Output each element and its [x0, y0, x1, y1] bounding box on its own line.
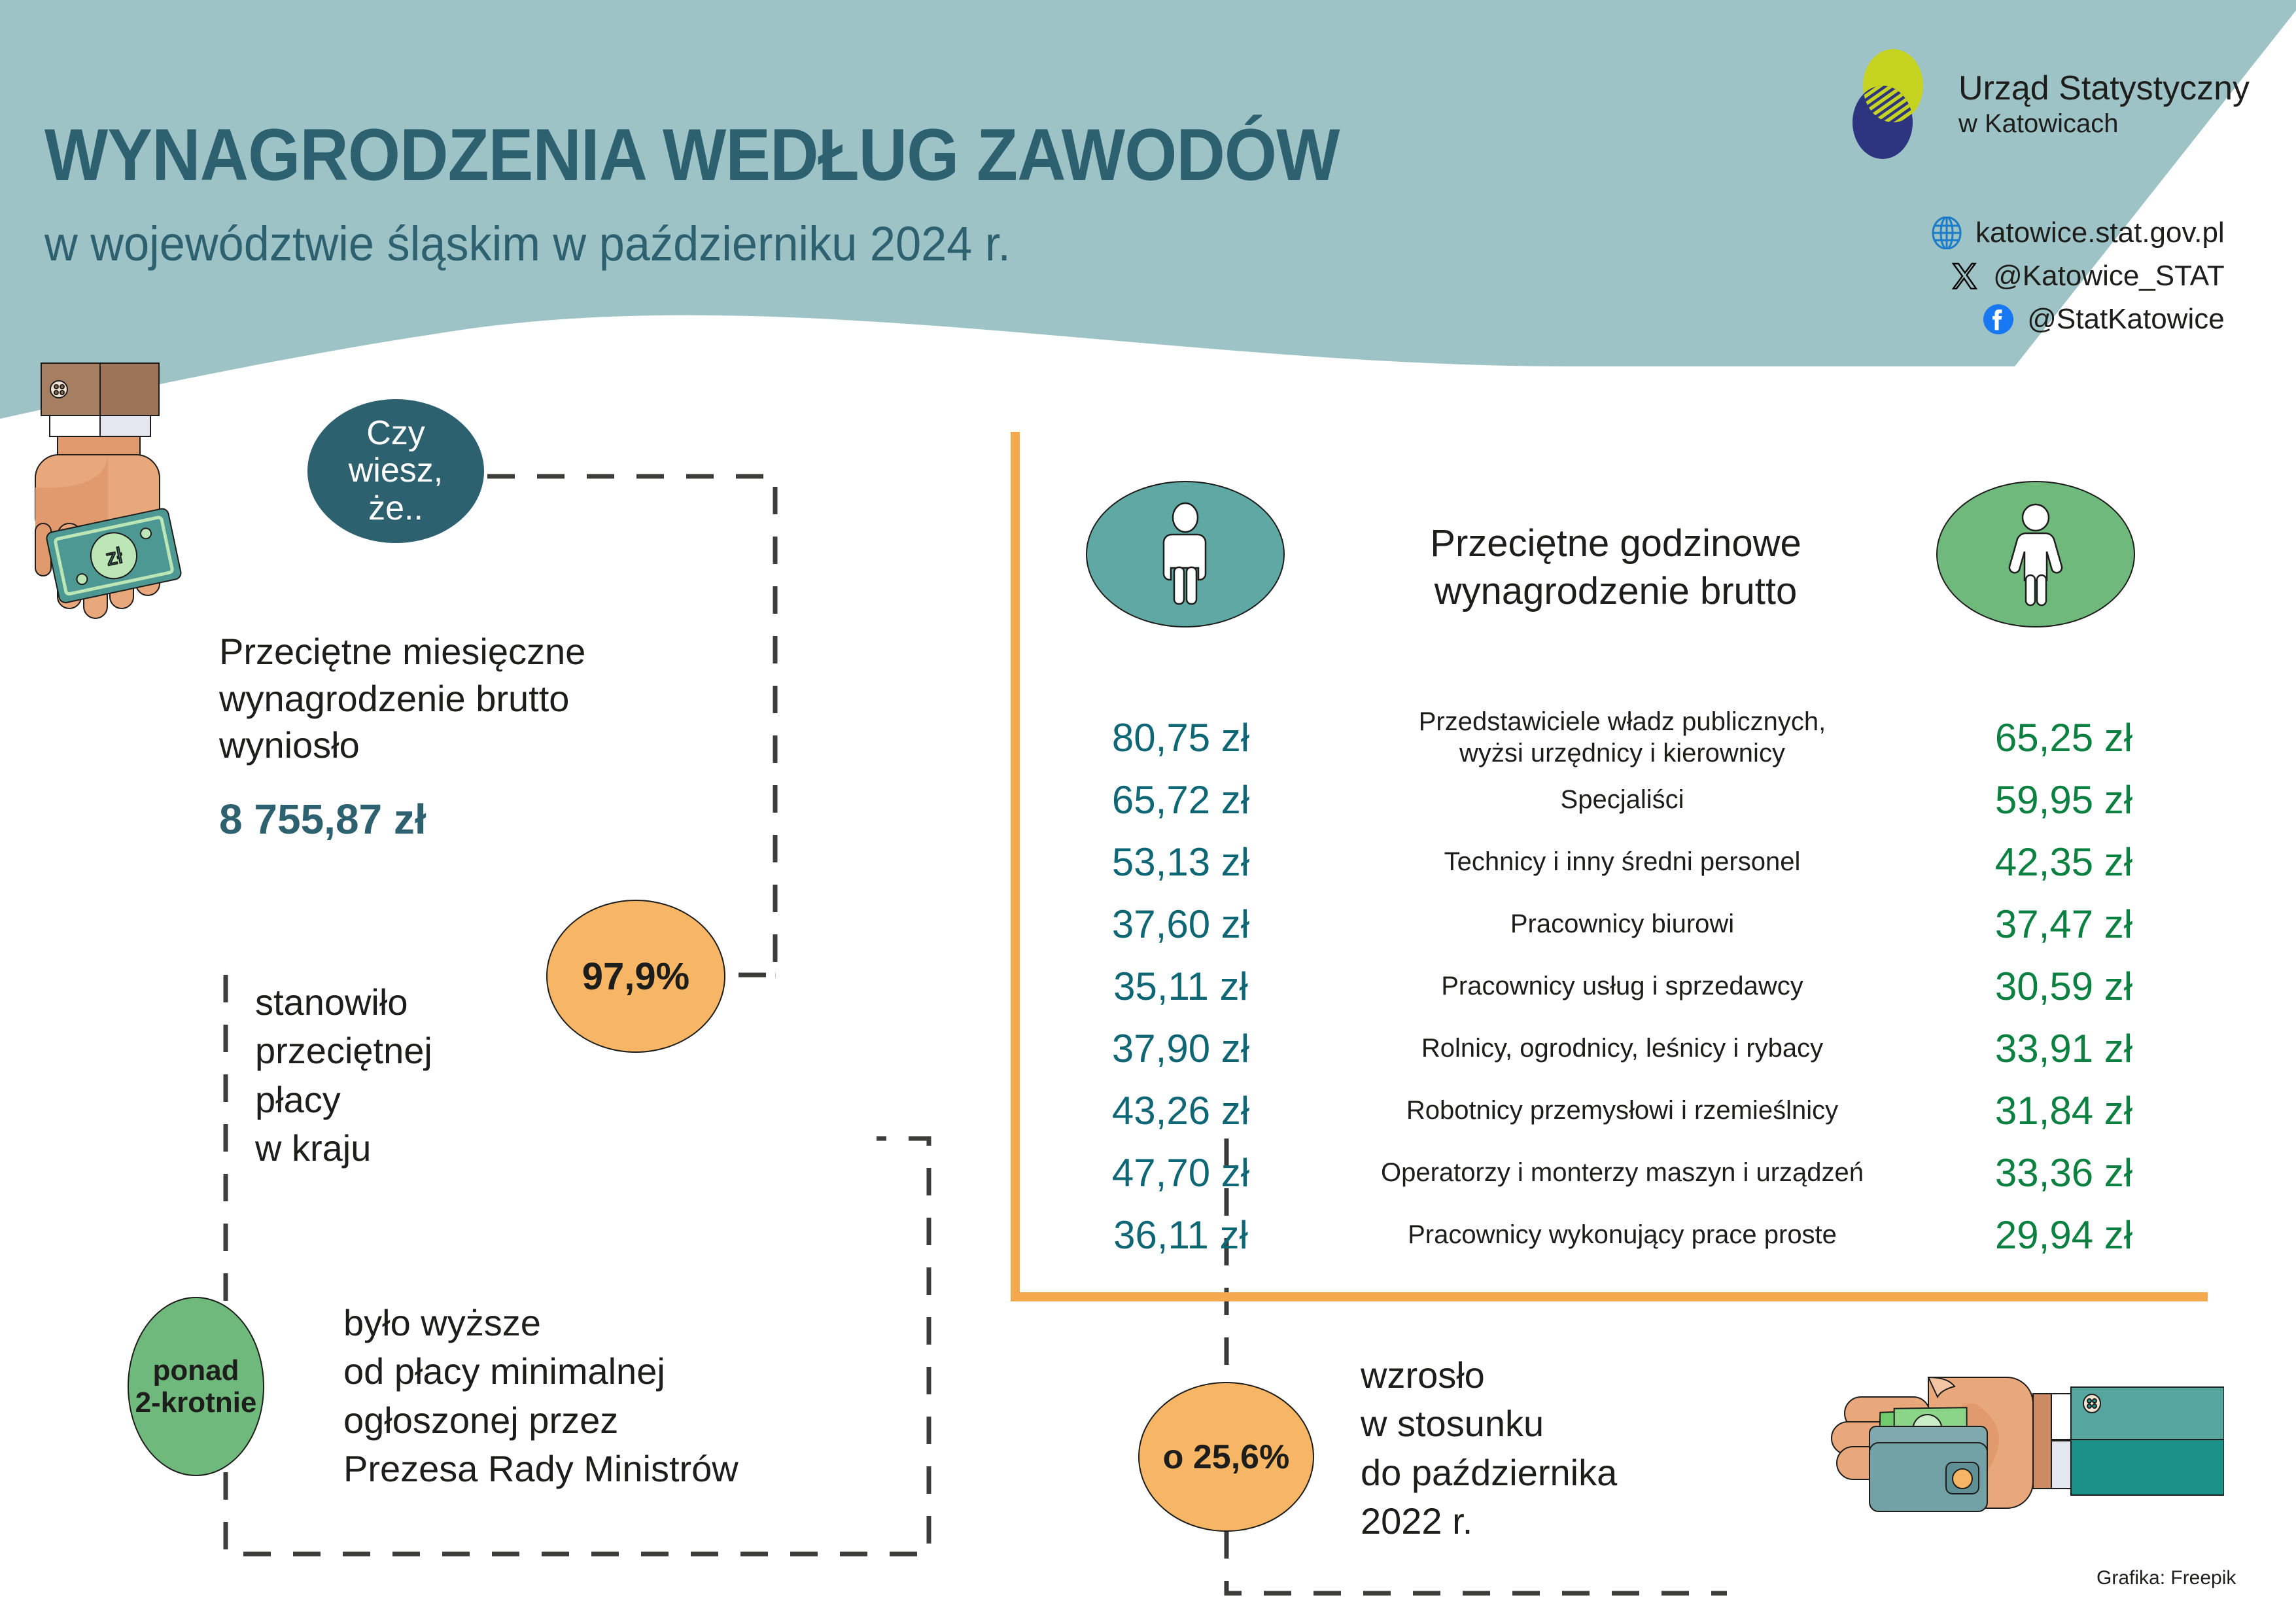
women-wage-value: 31,84 zł	[1923, 1080, 2204, 1142]
women-wage-value: 33,91 zł	[1923, 1017, 2204, 1080]
table-title-line1: Przeciętne godzinowe	[1321, 520, 1910, 568]
minwage-label-line1: było wyższe	[343, 1299, 739, 1347]
occupation-label-line1: Pracownicy usług i sprzedawcy	[1321, 971, 1923, 1002]
men-wage-value: 37,60 zł	[1040, 893, 1321, 955]
contact-x-twitter[interactable]: @Katowice_STAT	[1930, 259, 2225, 293]
women-wage-value: 30,59 zł	[1923, 955, 2204, 1017]
women-wage-value: 33,36 zł	[1923, 1142, 2204, 1204]
growth-label-line1: wzrosło	[1361, 1351, 1617, 1400]
table-row: 53,13 złTechnicy i inny średni personel4…	[1040, 831, 2204, 893]
monthly-wage-value: 8 755,87 zł	[219, 795, 426, 843]
organization-logo: Urząd Statystyczny w Katowicach	[1845, 49, 2250, 159]
share-label-line2: przeciętnej	[255, 1027, 432, 1075]
occupation-label: Rolnicy, ogrodnicy, leśnicy i rybacy	[1321, 1017, 1923, 1080]
hourly-wage-table: 80,75 złPrzedstawiciele władz publicznyc…	[1040, 707, 2204, 1266]
share-of-national-average-badge: 97,9%	[546, 900, 725, 1053]
occupation-label: Robotnicy przemysłowi i rzemieślnicy	[1321, 1080, 1923, 1142]
men-wage-value: 37,90 zł	[1040, 1017, 1321, 1080]
female-person-badge	[1936, 481, 2135, 627]
female-person-icon	[2000, 502, 2072, 607]
logo-line-2: w Katowicach	[1958, 109, 2250, 139]
contact-facebook[interactable]: @StatKatowice	[1930, 302, 2225, 336]
women-wage-value: 59,95 zł	[1923, 769, 2204, 831]
occupation-label-line1: Technicy i inny średni personel	[1321, 847, 1923, 877]
table-row: 36,11 złPracownicy wykonujący prace pros…	[1040, 1204, 2204, 1266]
share-label-line4: w kraju	[255, 1124, 432, 1173]
minwage-label-line4: Prezesa Rady Ministrów	[343, 1445, 739, 1493]
monthly-wage-label: Przeciętne miesięczne wynagrodzenie brut…	[219, 628, 585, 769]
page-title: WYNAGRODZENIA WEDŁUG ZAWODÓW	[44, 113, 1339, 197]
growth-label-line2: w stosunku	[1361, 1400, 1617, 1448]
multiple-badge-line2: 2-krotnie	[135, 1386, 257, 1419]
monthly-wage-label-line2: wynagrodzenie brutto	[219, 675, 585, 722]
table-row: 80,75 złPrzedstawiciele władz publicznyc…	[1040, 707, 2204, 769]
table-row: 37,60 złPracownicy biurowi37,47 zł	[1040, 893, 2204, 955]
multiple-badge-line1: ponad	[153, 1354, 239, 1386]
x-twitter-icon	[1947, 259, 1981, 293]
men-wage-value: 65,72 zł	[1040, 769, 1321, 831]
men-wage-value: 35,11 zł	[1040, 955, 1321, 1017]
infographic-root: WYNAGRODZENIA WEDŁUG ZAWODÓW w województ…	[0, 0, 2296, 1624]
table-row: 65,72 złSpecjaliści59,95 zł	[1040, 769, 2204, 831]
bubble-line-3: że..	[368, 490, 423, 527]
table-row: 35,11 złPracownicy usług i sprzedawcy30,…	[1040, 955, 2204, 1017]
hand-with-wallet-illustration	[1818, 1358, 2224, 1547]
occupation-label: Pracownicy usług i sprzedawcy	[1321, 955, 1923, 1017]
minimum-wage-multiple-badge: ponad 2-krotnie	[128, 1297, 264, 1476]
male-person-icon	[1149, 502, 1221, 607]
occupation-label: Pracownicy biurowi	[1321, 893, 1923, 955]
monthly-wage-label-line1: Przeciętne miesięczne	[219, 628, 585, 675]
facebook-icon	[1981, 302, 2015, 336]
minimum-wage-label: było wyższe od płacy minimalnej ogłoszon…	[343, 1299, 739, 1494]
women-wage-value: 42,35 zł	[1923, 831, 2204, 893]
bubble-line-2: wiesz,	[349, 452, 443, 489]
did-you-know-bubble: Czy wiesz, że..	[307, 399, 484, 543]
table-row: 37,90 złRolnicy, ogrodnicy, leśnicy i ry…	[1040, 1017, 2204, 1080]
men-wage-value: 43,26 zł	[1040, 1080, 1321, 1142]
occupation-label-line1: Przedstawiciele władz publicznych,	[1321, 707, 1923, 737]
image-credit: Grafika: Freepik	[2096, 1567, 2236, 1589]
growth-label-line3: do października	[1361, 1449, 1617, 1497]
occupation-label-line1: Rolnicy, ogrodnicy, leśnicy i rybacy	[1321, 1033, 1923, 1064]
share-of-national-average-label: stanowiło przeciętnej płacy w kraju	[255, 978, 432, 1173]
occupation-label-line1: Operatorzy i monterzy maszyn i urządzeń	[1321, 1157, 1923, 1188]
facebook-handle[interactable]: @StatKatowice	[2027, 303, 2224, 336]
male-person-badge	[1086, 481, 1285, 627]
occupation-label-line2: wyżsi urzędnicy i kierownicy	[1321, 738, 1923, 769]
women-wage-value: 65,25 zł	[1923, 707, 2204, 769]
table-title: Przeciętne godzinowe wynagrodzenie brutt…	[1321, 520, 1910, 615]
contact-website[interactable]: katowice.stat.gov.pl	[1930, 216, 2225, 250]
logo-mark-icon	[1845, 49, 1941, 159]
men-wage-value: 53,13 zł	[1040, 831, 1321, 893]
occupation-label-line1: Robotnicy przemysłowi i rzemieślnicy	[1321, 1095, 1923, 1126]
table-title-line2: wynagrodzenie brutto	[1321, 568, 1910, 616]
growth-percentage-badge: o 25,6%	[1138, 1382, 1314, 1532]
page-subtitle: w województwie śląskim w październiku 20…	[44, 216, 1011, 272]
occupation-label: Przedstawiciele władz publicznych,wyżsi …	[1321, 707, 1923, 769]
women-wage-value: 37,47 zł	[1923, 893, 2204, 955]
occupation-label-line1: Pracownicy biurowi	[1321, 909, 1923, 940]
x-handle[interactable]: @Katowice_STAT	[1993, 260, 2225, 292]
occupation-label-line1: Pracownicy wykonujący prace proste	[1321, 1220, 1923, 1250]
table-row: 47,70 złOperatorzy i monterzy maszyn i u…	[1040, 1142, 2204, 1204]
table-row: 43,26 złRobotnicy przemysłowi i rzemieśl…	[1040, 1080, 2204, 1142]
monthly-wage-label-line3: wyniosło	[219, 722, 585, 769]
minwage-label-line3: ogłoszonej przez	[343, 1396, 739, 1445]
globe-icon	[1930, 216, 1964, 250]
occupation-label: Pracownicy wykonujący prace proste	[1321, 1204, 1923, 1266]
logo-text: Urząd Statystyczny w Katowicach	[1958, 69, 2250, 140]
growth-label-line4: 2022 r.	[1361, 1497, 1617, 1545]
growth-label: wzrosło w stosunku do października 2022 …	[1361, 1351, 1617, 1546]
website-url[interactable]: katowice.stat.gov.pl	[1975, 217, 2225, 249]
minwage-label-line2: od płacy minimalnej	[343, 1347, 739, 1396]
men-wage-value: 47,70 zł	[1040, 1142, 1321, 1204]
contact-list: katowice.stat.gov.pl @Katowice_STAT @Sta…	[1930, 216, 2225, 345]
share-label-line3: płacy	[255, 1076, 432, 1124]
occupation-label: Technicy i inny średni personel	[1321, 831, 1923, 893]
men-wage-value: 80,75 zł	[1040, 707, 1321, 769]
occupation-label: Specjaliści	[1321, 769, 1923, 831]
occupation-label-line1: Specjaliści	[1321, 785, 1923, 815]
men-wage-value: 36,11 zł	[1040, 1204, 1321, 1266]
hand-with-banknote-illustration: zł	[7, 357, 203, 697]
occupation-label: Operatorzy i monterzy maszyn i urządzeń	[1321, 1142, 1923, 1204]
share-label-line1: stanowiło	[255, 978, 432, 1027]
bubble-line-1: Czy	[366, 415, 425, 452]
women-wage-value: 29,94 zł	[1923, 1204, 2204, 1266]
logo-line-1: Urząd Statystyczny	[1958, 69, 2250, 109]
